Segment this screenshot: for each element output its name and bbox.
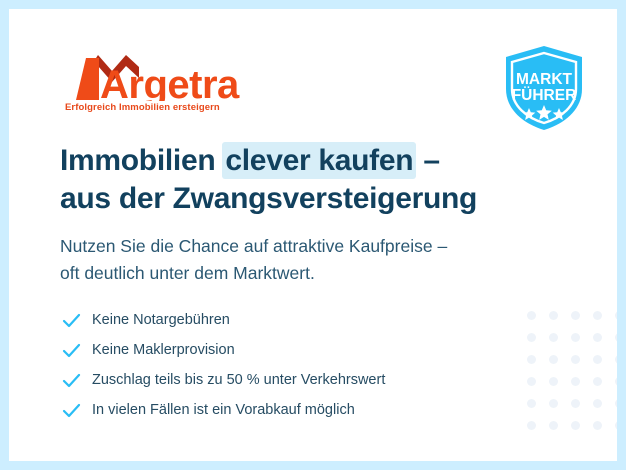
page-title: Immobilien clever kaufen – aus der Zwang… (60, 142, 580, 218)
headline-line-1: Immobilien clever kaufen – (60, 142, 580, 180)
dot-grid-decoration (527, 311, 617, 433)
list-item: Zuschlag teils bis zu 50 % unter Verkehr… (62, 365, 532, 395)
dot (615, 377, 617, 386)
svg-text:Argetra: Argetra (100, 63, 240, 101)
badge-line-2: FÜHRER (512, 87, 577, 104)
check-icon (62, 340, 92, 360)
dot (615, 399, 617, 408)
dot (593, 311, 602, 320)
subtitle-line-2: oft deutlich unter dem Marktwert. (60, 260, 580, 287)
headline-highlight: clever kaufen (222, 142, 416, 179)
dot (615, 355, 617, 364)
dot (571, 421, 580, 430)
dot (615, 311, 617, 320)
dot (571, 355, 580, 364)
logo-tagline: Erfolgreich Immobilien ersteigern (65, 102, 220, 113)
subtitle: Nutzen Sie die Chance auf attraktive Kau… (60, 233, 580, 287)
dot (615, 421, 617, 430)
dot (549, 421, 558, 430)
dot (571, 377, 580, 386)
dot (593, 355, 602, 364)
dot (549, 377, 558, 386)
subtitle-line-1: Nutzen Sie die Chance auf attraktive Kau… (60, 233, 580, 260)
check-icon (62, 400, 92, 420)
dot (593, 377, 602, 386)
check-icon (62, 370, 92, 390)
argetra-logo: Argetra Erfolgreich Immobilien ersteiger… (64, 53, 254, 119)
shield-icon: MARKT FÜHRER (498, 42, 590, 134)
list-item-label: Keine Notargebühren (92, 310, 230, 330)
check-icon (62, 310, 92, 330)
dot (549, 333, 558, 342)
list-item-label: In vielen Fällen ist ein Vorabkauf mögli… (92, 400, 355, 420)
headline-prefix: Immobilien (60, 144, 223, 177)
list-item-label: Keine Maklerprovision (92, 340, 235, 360)
headline-suffix: – (415, 144, 439, 177)
dot (571, 311, 580, 320)
logo-mark-icon: Argetra (64, 53, 254, 101)
headline-line-2: aus der Zwangsversteigerung (60, 180, 580, 218)
market-leader-badge: MARKT FÜHRER (498, 42, 590, 134)
dot (571, 399, 580, 408)
badge-line-1: MARKT (516, 71, 572, 88)
dot (593, 333, 602, 342)
dot (549, 399, 558, 408)
list-item-label: Zuschlag teils bis zu 50 % unter Verkehr… (92, 370, 385, 390)
list-item: Keine Notargebühren (62, 305, 532, 335)
dot (615, 333, 617, 342)
list-item: Keine Maklerprovision (62, 335, 532, 365)
benefits-list: Keine Notargebühren Keine Maklerprovisio… (62, 305, 532, 425)
list-item: In vielen Fällen ist ein Vorabkauf mögli… (62, 395, 532, 425)
dot (593, 421, 602, 430)
promo-card: Argetra Erfolgreich Immobilien ersteiger… (9, 9, 617, 461)
dot (549, 311, 558, 320)
dot (549, 355, 558, 364)
dot (593, 399, 602, 408)
dot (571, 333, 580, 342)
